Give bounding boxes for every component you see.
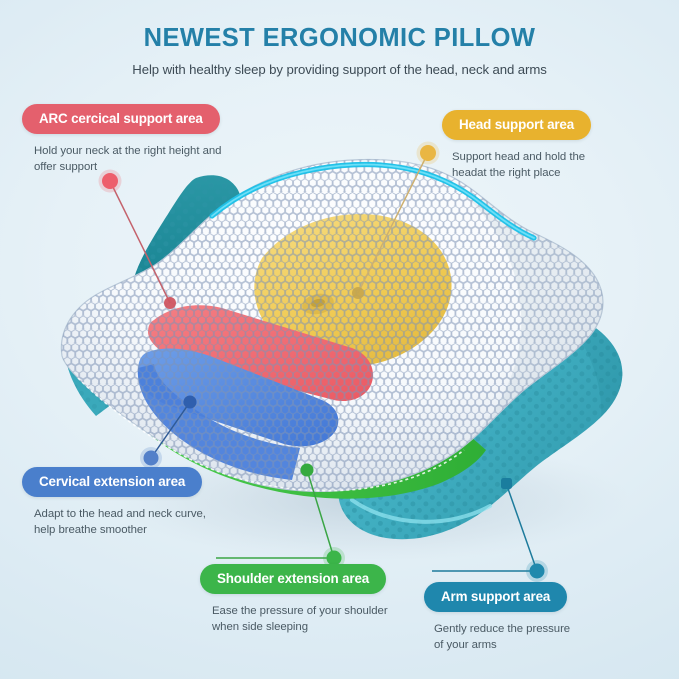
description-cervical-extension: Adapt to the head and neck curve, help b… xyxy=(22,506,206,538)
description-shoulder-extension: Ease the pressure of your shoulder when … xyxy=(200,603,388,635)
infographic-page: NEWEST ERGONOMIC PILLOW Help with health… xyxy=(0,0,679,679)
callout-head-support[interactable]: Head support area Support head and hold … xyxy=(442,110,591,181)
description-head-support: Support head and hold the headat the rig… xyxy=(442,149,591,181)
badge-arm-support[interactable]: Arm support area xyxy=(424,582,567,612)
description-arc-cervical: Hold your neck at the right height and o… xyxy=(22,143,221,175)
badge-head-support[interactable]: Head support area xyxy=(442,110,591,140)
callout-arc-cervical[interactable]: ARC cercical support area Hold your neck… xyxy=(22,104,221,175)
callout-cervical-extension[interactable]: Cervical extension area Adapt to the hea… xyxy=(22,467,206,538)
badge-arc-cervical[interactable]: ARC cercical support area xyxy=(22,104,220,134)
description-arm-support: Gently reduce the pressure of your arms xyxy=(424,621,570,653)
callout-arm-support[interactable]: Arm support area Gently reduce the press… xyxy=(424,582,570,653)
badge-shoulder-extension[interactable]: Shoulder extension area xyxy=(200,564,386,594)
badge-cervical-extension[interactable]: Cervical extension area xyxy=(22,467,202,497)
callout-shoulder-extension[interactable]: Shoulder extension area Ease the pressur… xyxy=(200,564,388,635)
